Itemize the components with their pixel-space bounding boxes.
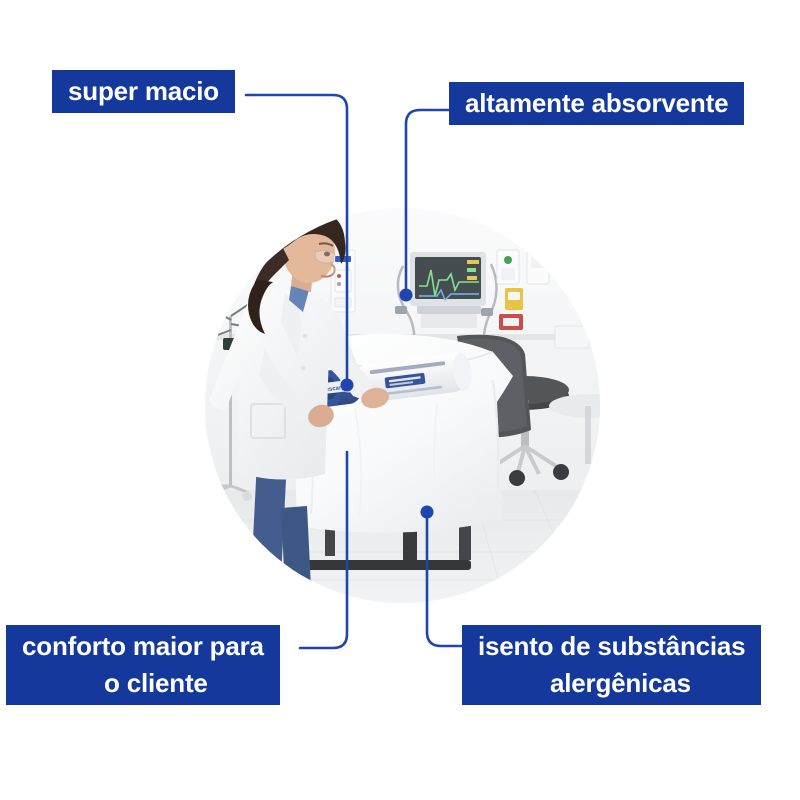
- callout-super-macio-line-1: super macio: [52, 70, 235, 113]
- clinic-photo: descarpack: [205, 208, 600, 603]
- callout-super-macio: super macio: [52, 70, 235, 113]
- callout-isento-substancias-line-2: alergênicas: [534, 662, 707, 705]
- callout-altamente-absorvente-line-1: altamente absorvente: [449, 82, 744, 125]
- callout-isento-substancias: isento de substâncias alergênicas: [462, 625, 761, 705]
- callout-conforto-maior: conforto maior para o cliente: [6, 625, 280, 705]
- callout-conforto-maior-line-2: o cliente: [88, 662, 224, 705]
- infographic-canvas: descarpack: [0, 0, 800, 800]
- callout-altamente-absorvente: altamente absorvente: [449, 82, 744, 125]
- clinic-photo-illustration: descarpack: [205, 208, 600, 603]
